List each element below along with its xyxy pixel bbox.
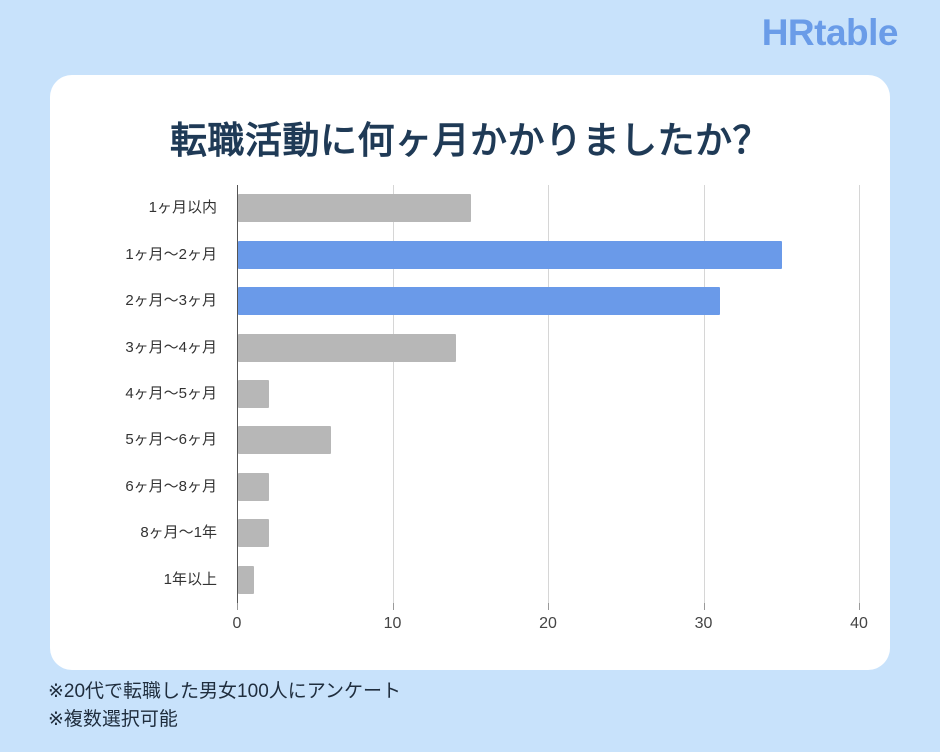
bar bbox=[238, 287, 720, 315]
y-axis-labels: 1ヶ月以内1ヶ月～2ヶ月2ヶ月～3ヶ月3ヶ月～4ヶ月4ヶ月～5ヶ月5ヶ月～6ヶ月… bbox=[80, 185, 225, 603]
chart-plot: 1ヶ月以内1ヶ月～2ヶ月2ヶ月～3ヶ月3ヶ月～4ヶ月4ヶ月～5ヶ月5ヶ月～6ヶ月… bbox=[80, 185, 860, 645]
x-axis-tick-mark bbox=[393, 603, 394, 610]
y-axis-tick-label: 2ヶ月～3ヶ月 bbox=[125, 287, 217, 315]
x-axis-tick-mark bbox=[548, 603, 549, 610]
bar bbox=[238, 519, 269, 547]
y-axis-tick-label: 1年以上 bbox=[164, 566, 217, 594]
bar bbox=[238, 380, 269, 408]
x-axis-tick-label: 30 bbox=[695, 615, 713, 633]
y-axis-tick-label: 8ヶ月～1年 bbox=[140, 519, 217, 547]
x-axis-tick-mark bbox=[237, 603, 238, 610]
x-axis-tick-label: 10 bbox=[384, 615, 402, 633]
footnote-line: ※20代で転職した男女100人にアンケート bbox=[48, 678, 401, 706]
y-axis-tick-label: 1ヶ月～2ヶ月 bbox=[125, 241, 217, 269]
footnote-line: ※複数選択可能 bbox=[48, 706, 401, 734]
bar bbox=[238, 473, 269, 501]
chart-card: 転職活動に何ヶ月かかりましたか？ 1ヶ月以内1ヶ月～2ヶ月2ヶ月～3ヶ月3ヶ月～… bbox=[50, 75, 890, 670]
plot-area bbox=[237, 185, 860, 603]
footnotes: ※20代で転職した男女100人にアンケート※複数選択可能 bbox=[48, 678, 401, 733]
x-axis-tick-label: 40 bbox=[850, 615, 868, 633]
x-axis: 010203040 bbox=[237, 603, 860, 643]
chart-title: 転職活動に何ヶ月かかりましたか？ bbox=[50, 110, 890, 164]
gridline bbox=[859, 185, 860, 603]
bar bbox=[238, 194, 471, 222]
bar bbox=[238, 426, 331, 454]
x-axis-tick-mark bbox=[704, 603, 705, 610]
x-axis-tick-mark bbox=[859, 603, 860, 610]
y-axis-tick-label: 6ヶ月～8ヶ月 bbox=[125, 473, 217, 501]
bar bbox=[238, 566, 254, 594]
y-axis-tick-label: 4ヶ月～5ヶ月 bbox=[125, 380, 217, 408]
y-axis-tick-label: 3ヶ月～4ヶ月 bbox=[125, 334, 217, 362]
bar bbox=[238, 241, 782, 269]
x-axis-tick-label: 0 bbox=[233, 615, 242, 633]
bar bbox=[238, 334, 456, 362]
y-axis-tick-label: 1ヶ月以内 bbox=[149, 194, 217, 222]
x-axis-tick-label: 20 bbox=[539, 615, 557, 633]
brand-logo: HRtable bbox=[762, 14, 898, 51]
y-axis-tick-label: 5ヶ月～6ヶ月 bbox=[125, 426, 217, 454]
